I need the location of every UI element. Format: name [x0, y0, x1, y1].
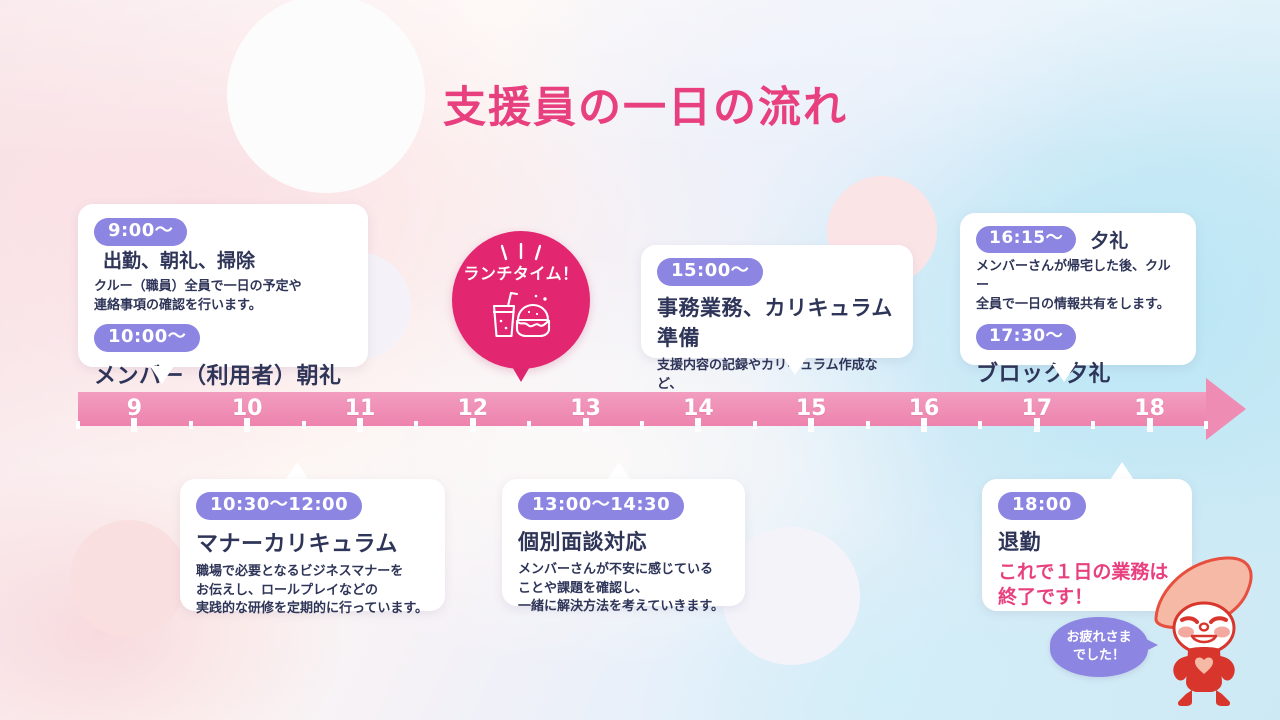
- mascot-bubble-line-1: お疲れさま: [1066, 629, 1131, 647]
- interview-desc-line-1: メンバーさんが不安に感じている: [518, 561, 729, 580]
- timeline-tick-minor-start: [76, 421, 80, 429]
- timeline-tick-minor-15: [866, 421, 870, 429]
- office-desc-line-1: 支援内容の記録やカリキュラム作成など、: [657, 357, 897, 395]
- office-row: 15:00〜: [657, 258, 897, 286]
- timeline-tick-major-16: [921, 418, 927, 432]
- manner-desc-line-2: お伝えし、ロールプレイなどの: [196, 582, 429, 601]
- page-title: 支援員の一日の流れ: [443, 73, 848, 135]
- interview-row: 13:00〜14:30: [518, 492, 729, 520]
- morning-desc-line-2: 連絡事項の確認を行います。: [94, 297, 352, 316]
- timeline-tick-minor-17: [1091, 421, 1095, 429]
- card-manner[interactable]: 10:30〜12:00 マナーカリキュラム 職場で必要となるビジネスマナーを お…: [180, 479, 445, 611]
- badge-1500: 15:00〜: [657, 258, 763, 286]
- timeline-tick-minor-13: [640, 421, 644, 429]
- timeline-tick-major-13: [583, 418, 589, 432]
- card-interview-pointer: [607, 462, 631, 480]
- evening-title-1: 夕礼: [1090, 226, 1128, 253]
- timeline-tick-major-17: [1034, 418, 1040, 432]
- timeline-tick-major-10: [244, 418, 250, 432]
- mascot-bubble-line-2: でした！: [1066, 647, 1131, 665]
- morning-row-1: 9:00〜 出勤、朝礼、掃除: [94, 218, 352, 273]
- card-interview[interactable]: 13:00〜14:30 個別面談対応 メンバーさんが不安に感じている ことや課題…: [502, 479, 745, 606]
- spacer: [94, 315, 352, 324]
- manner-row: 10:30〜12:00: [196, 492, 429, 520]
- badge-1000: 10:00〜: [94, 324, 200, 352]
- card-evening-pointer: [1052, 364, 1076, 382]
- interview-title: 個別面談対応: [518, 526, 729, 556]
- timeline-tick-minor-18: [1204, 421, 1208, 429]
- evening-title-2: ブロック夕礼: [976, 356, 1180, 388]
- decor-circle-white-top: [227, 0, 425, 193]
- lunch-bubble[interactable]: ランチタイム！: [452, 231, 590, 369]
- card-leave-pointer: [1110, 462, 1134, 480]
- timeline-tick-major-14: [695, 418, 701, 432]
- sparkle-lines-icon: [501, 243, 541, 263]
- evening-desc-line-1: メンバーさんが帰宅した後、クルー: [976, 258, 1180, 296]
- morning-desc: クルー（職員）全員で一日の予定や 連絡事項の確認を行います。: [94, 278, 352, 316]
- timeline-tick-major-12: [470, 418, 476, 432]
- badge-1030-1200: 10:30〜12:00: [196, 492, 362, 520]
- manner-title: マナーカリキュラム: [196, 526, 429, 558]
- manner-desc: 職場で必要となるビジネスマナーを お伝えし、ロールプレイなどの 実践的な研修を定…: [196, 563, 429, 620]
- badge-1615: 16:15〜: [976, 226, 1076, 253]
- evening-desc-line-2: 全員で一日の情報共有をします。: [976, 296, 1180, 315]
- morning-title-1: 出勤、朝礼、掃除: [103, 246, 255, 273]
- office-title: 事務業務、カリキュラム準備: [657, 292, 897, 352]
- mascot-speech-bubble: お疲れさま でした！: [1050, 617, 1148, 677]
- badge-0900: 9:00〜: [94, 218, 187, 246]
- manner-desc-line-1: 職場で必要となるビジネスマナーを: [196, 563, 429, 582]
- card-office[interactable]: 15:00〜 事務業務、カリキュラム準備 支援内容の記録やカリキュラム作成など、…: [641, 245, 913, 358]
- card-evening[interactable]: 16:15〜 夕礼 メンバーさんが帰宅した後、クルー 全員で一日の情報共有をしま…: [960, 213, 1196, 365]
- timeline-tick-major-15: [808, 418, 814, 432]
- manner-desc-line-3: 実践的な研修を定期的に行っています。: [196, 600, 429, 619]
- timeline-arrow-head: [1206, 378, 1246, 440]
- evening-desc: メンバーさんが帰宅した後、クルー 全員で一日の情報共有をします。: [976, 258, 1180, 315]
- timeline-tick-minor-16: [978, 421, 982, 429]
- badge-1300-1430: 13:00〜14:30: [518, 492, 684, 520]
- timeline-tick-minor-14: [753, 421, 757, 429]
- leave-title: 退勤: [998, 526, 1176, 556]
- evening-row-2: 17:30〜: [976, 324, 1180, 351]
- interview-desc-line-2: ことや課題を確認し、: [518, 580, 729, 599]
- badge-1800: 18:00: [998, 492, 1086, 520]
- card-office-pointer: [783, 357, 807, 375]
- burger-drink-icon: [488, 290, 554, 342]
- spacer: [976, 315, 1180, 324]
- badge-1730: 17:30〜: [976, 324, 1076, 351]
- card-morning-pointer: [150, 366, 174, 384]
- mascot-character-icon: [1148, 556, 1258, 708]
- card-morning[interactable]: 9:00〜 出勤、朝礼、掃除 クルー（職員）全員で一日の予定や 連絡事項の確認を…: [78, 204, 368, 367]
- infographic-slide: 支援員の一日の流れ 9:00〜 出勤、朝礼、掃除 クルー（職員）全員で一日の予定…: [0, 0, 1280, 720]
- decor-circle-pink-bottomleft: [70, 520, 187, 637]
- lunch-label: ランチタイム！: [463, 260, 578, 284]
- interview-desc-line-3: 一緒に解決方法を考えていきます。: [518, 598, 729, 617]
- timeline-tick-major-11: [357, 418, 363, 432]
- morning-desc-line-1: クルー（職員）全員で一日の予定や: [94, 278, 352, 297]
- card-manner-pointer: [285, 462, 309, 480]
- timeline-tick-minor-12: [527, 421, 531, 429]
- interview-desc: メンバーさんが不安に感じている ことや課題を確認し、 一緒に解決方法を考えていき…: [518, 561, 729, 618]
- morning-title-2: メンバー（利用者）朝礼: [94, 358, 352, 390]
- timeline-tick-minor-11: [414, 421, 418, 429]
- morning-row-2: 10:00〜: [94, 324, 352, 352]
- timeline-tick-major-9: [131, 418, 137, 432]
- leave-row: 18:00: [998, 492, 1176, 520]
- mascot-bubble-text: お疲れさま でした！: [1066, 629, 1131, 665]
- timeline-tick-major-18: [1147, 418, 1153, 432]
- evening-row-1: 16:15〜 夕礼: [976, 226, 1180, 253]
- timeline-tick-minor-10: [302, 421, 306, 429]
- timeline-tick-minor-9: [189, 421, 193, 429]
